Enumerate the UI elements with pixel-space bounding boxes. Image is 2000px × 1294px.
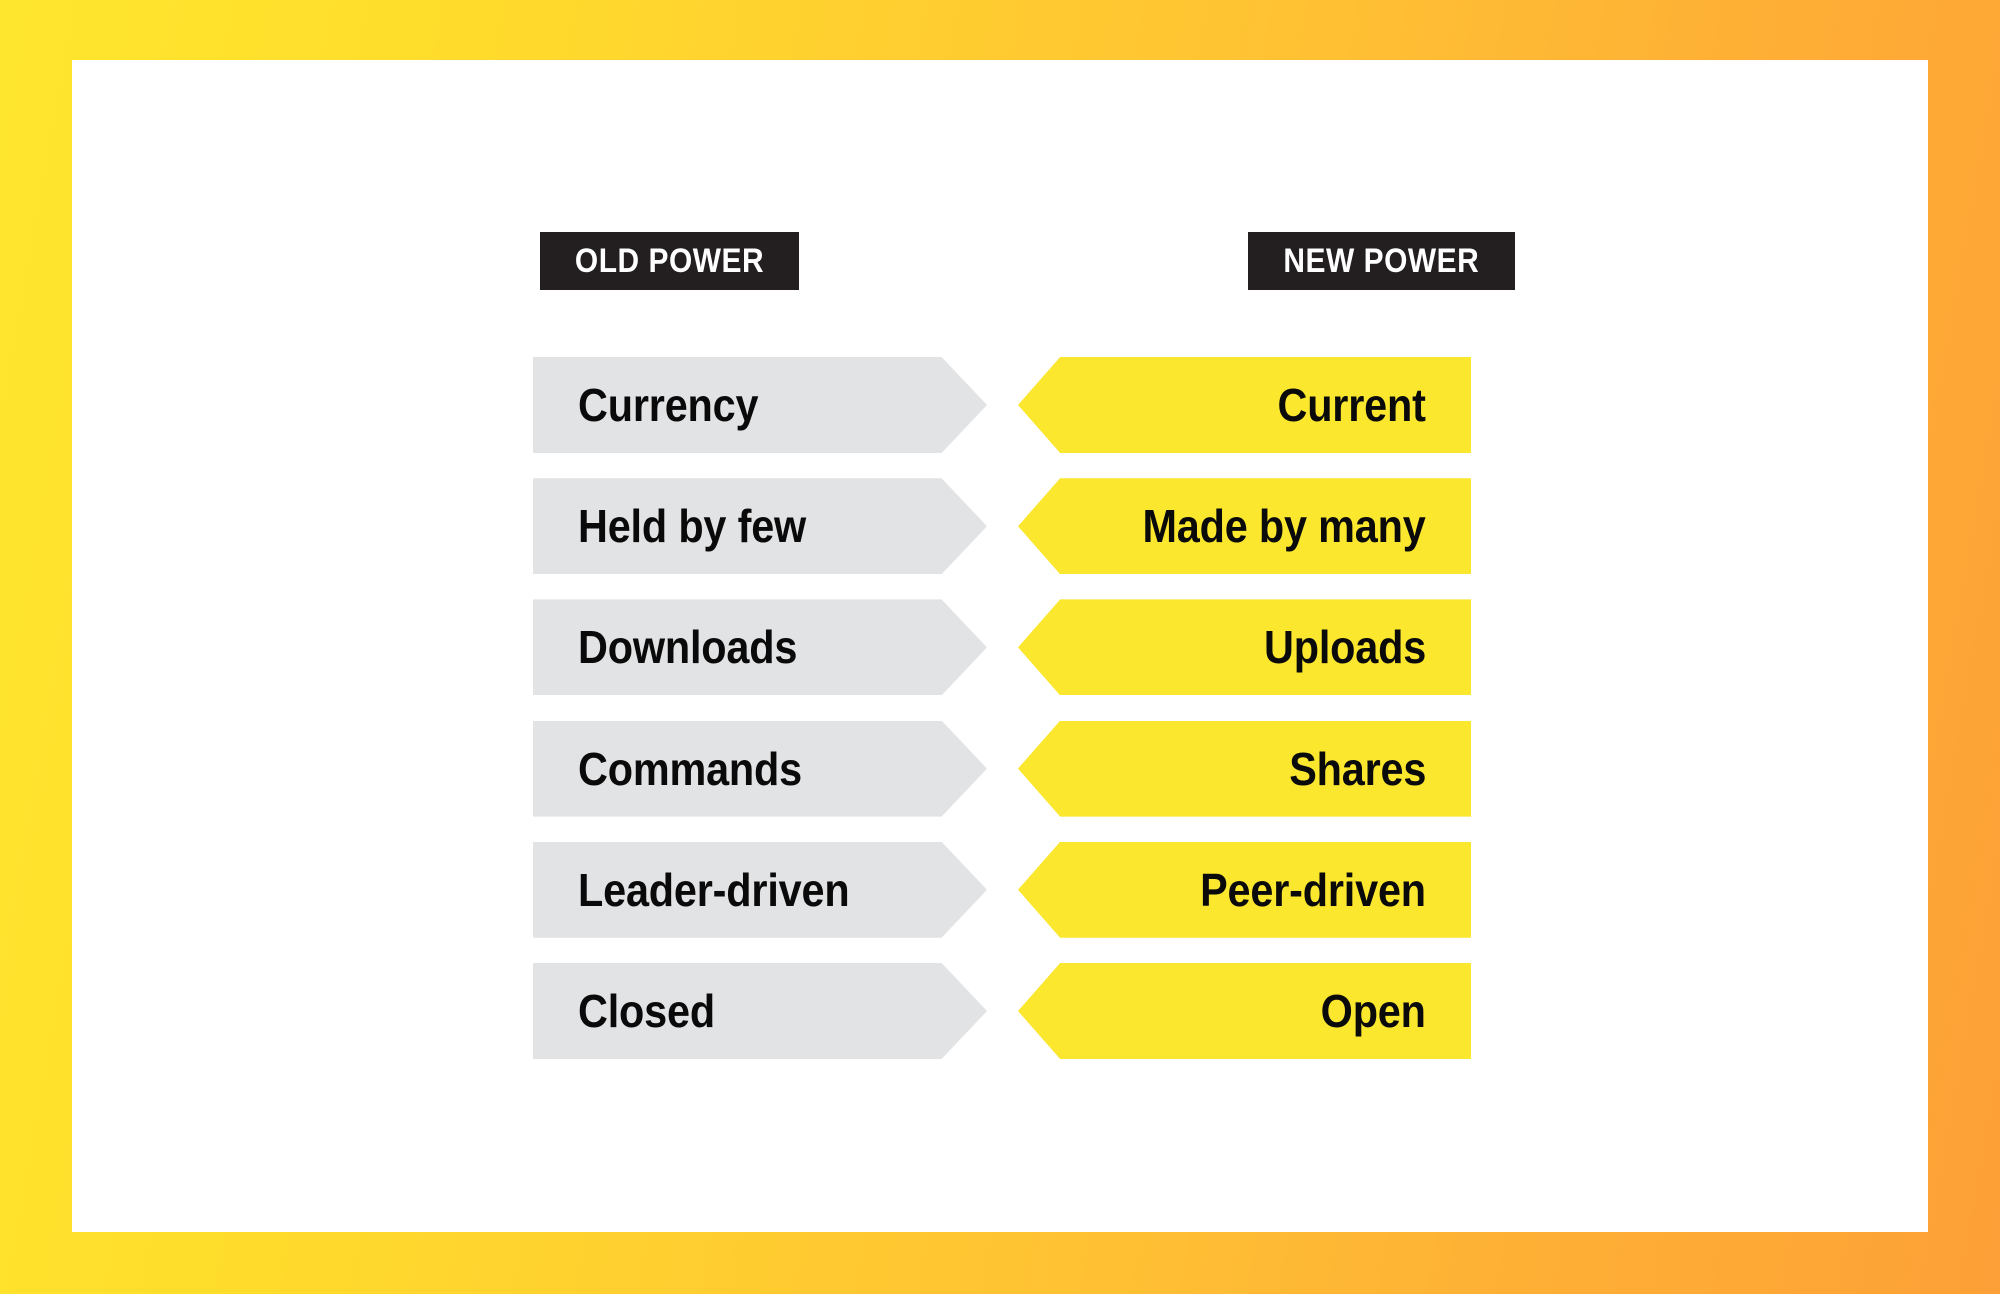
old-power-bar[interactable]: Downloads <box>533 599 987 695</box>
new-power-bar-label: Open <box>1321 988 1426 1034</box>
comparison-row: CommandsShares <box>0 721 2000 817</box>
comparison-row: Leader-drivenPeer-driven <box>0 842 2000 938</box>
comparison-row: ClosedOpen <box>0 963 2000 1059</box>
old-power-bar-label: Closed <box>578 988 715 1034</box>
old-power-bar-label: Downloads <box>578 624 797 670</box>
old-power-bar[interactable]: Currency <box>533 357 987 453</box>
new-power-bar[interactable]: Uploads <box>1018 599 1471 695</box>
comparison-row: DownloadsUploads <box>0 599 2000 695</box>
old-power-bar[interactable]: Leader-driven <box>533 842 987 938</box>
new-power-bar[interactable]: Peer-driven <box>1018 842 1471 938</box>
column-header-old-power-label: OLD POWER <box>575 244 764 278</box>
new-power-bar-label: Current <box>1278 382 1426 428</box>
new-power-bar-label: Made by many <box>1143 503 1426 549</box>
old-power-bar-label: Currency <box>578 382 758 428</box>
old-power-bar-label: Held by few <box>578 503 806 549</box>
old-power-bar-label: Leader-driven <box>578 867 849 913</box>
new-power-bar-label: Uploads <box>1264 624 1426 670</box>
comparison-row: CurrencyCurrent <box>0 357 2000 453</box>
comparison-row: Held by fewMade by many <box>0 478 2000 574</box>
old-power-bar[interactable]: Closed <box>533 963 987 1059</box>
new-power-bar-label: Peer-driven <box>1200 867 1426 913</box>
new-power-bar[interactable]: Made by many <box>1018 478 1471 574</box>
new-power-bar-label: Shares <box>1289 746 1426 792</box>
old-power-bar-label: Commands <box>578 746 802 792</box>
column-header-new-power: NEW POWER <box>1248 232 1515 290</box>
old-power-bar[interactable]: Held by few <box>533 478 987 574</box>
new-power-bar[interactable]: Shares <box>1018 721 1471 817</box>
new-power-bar[interactable]: Current <box>1018 357 1471 453</box>
infographic-canvas: OLD POWER NEW POWER CurrencyCurrentHeld … <box>0 0 2000 1294</box>
column-header-old-power: OLD POWER <box>540 232 799 290</box>
column-header-new-power-label: NEW POWER <box>1283 244 1479 278</box>
old-power-bar[interactable]: Commands <box>533 721 987 817</box>
new-power-bar[interactable]: Open <box>1018 963 1471 1059</box>
